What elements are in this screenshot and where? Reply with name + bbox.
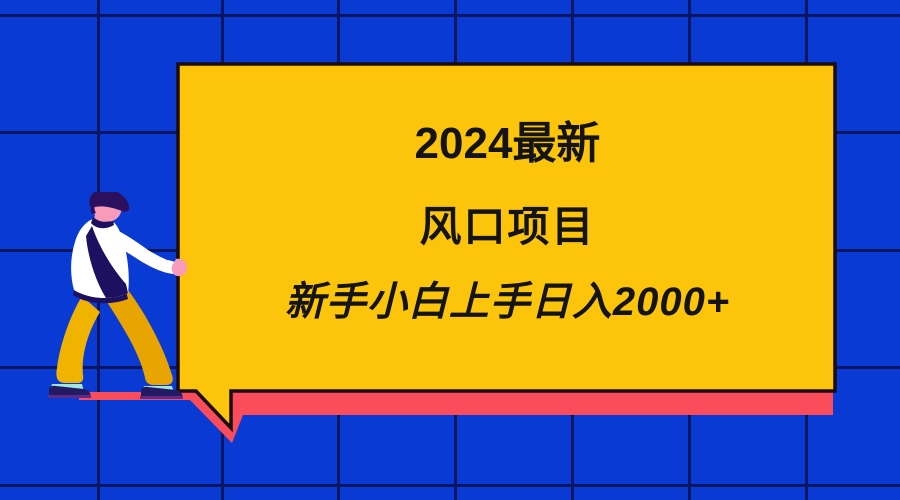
person-front-leg [100,290,173,385]
headline-line-1: 2024最新 [415,120,601,168]
person-back-shoe-outsole [48,395,91,398]
poster-canvas: 2024最新 风口项目 新手小白上手日入2000+ [0,0,900,500]
person-pushing-icon [48,192,188,407]
person-hand [172,259,187,276]
person-back-leg [56,296,100,383]
headline-line-3: 新手小白上手日入2000+ [285,280,730,324]
headline-line-2: 风口项目 [419,204,595,250]
speech-bubble-shadow [79,392,833,443]
headline-block: 2024最新 风口项目 新手小白上手日入2000+ [180,66,835,390]
person-front-shoe-outsole [140,396,183,399]
